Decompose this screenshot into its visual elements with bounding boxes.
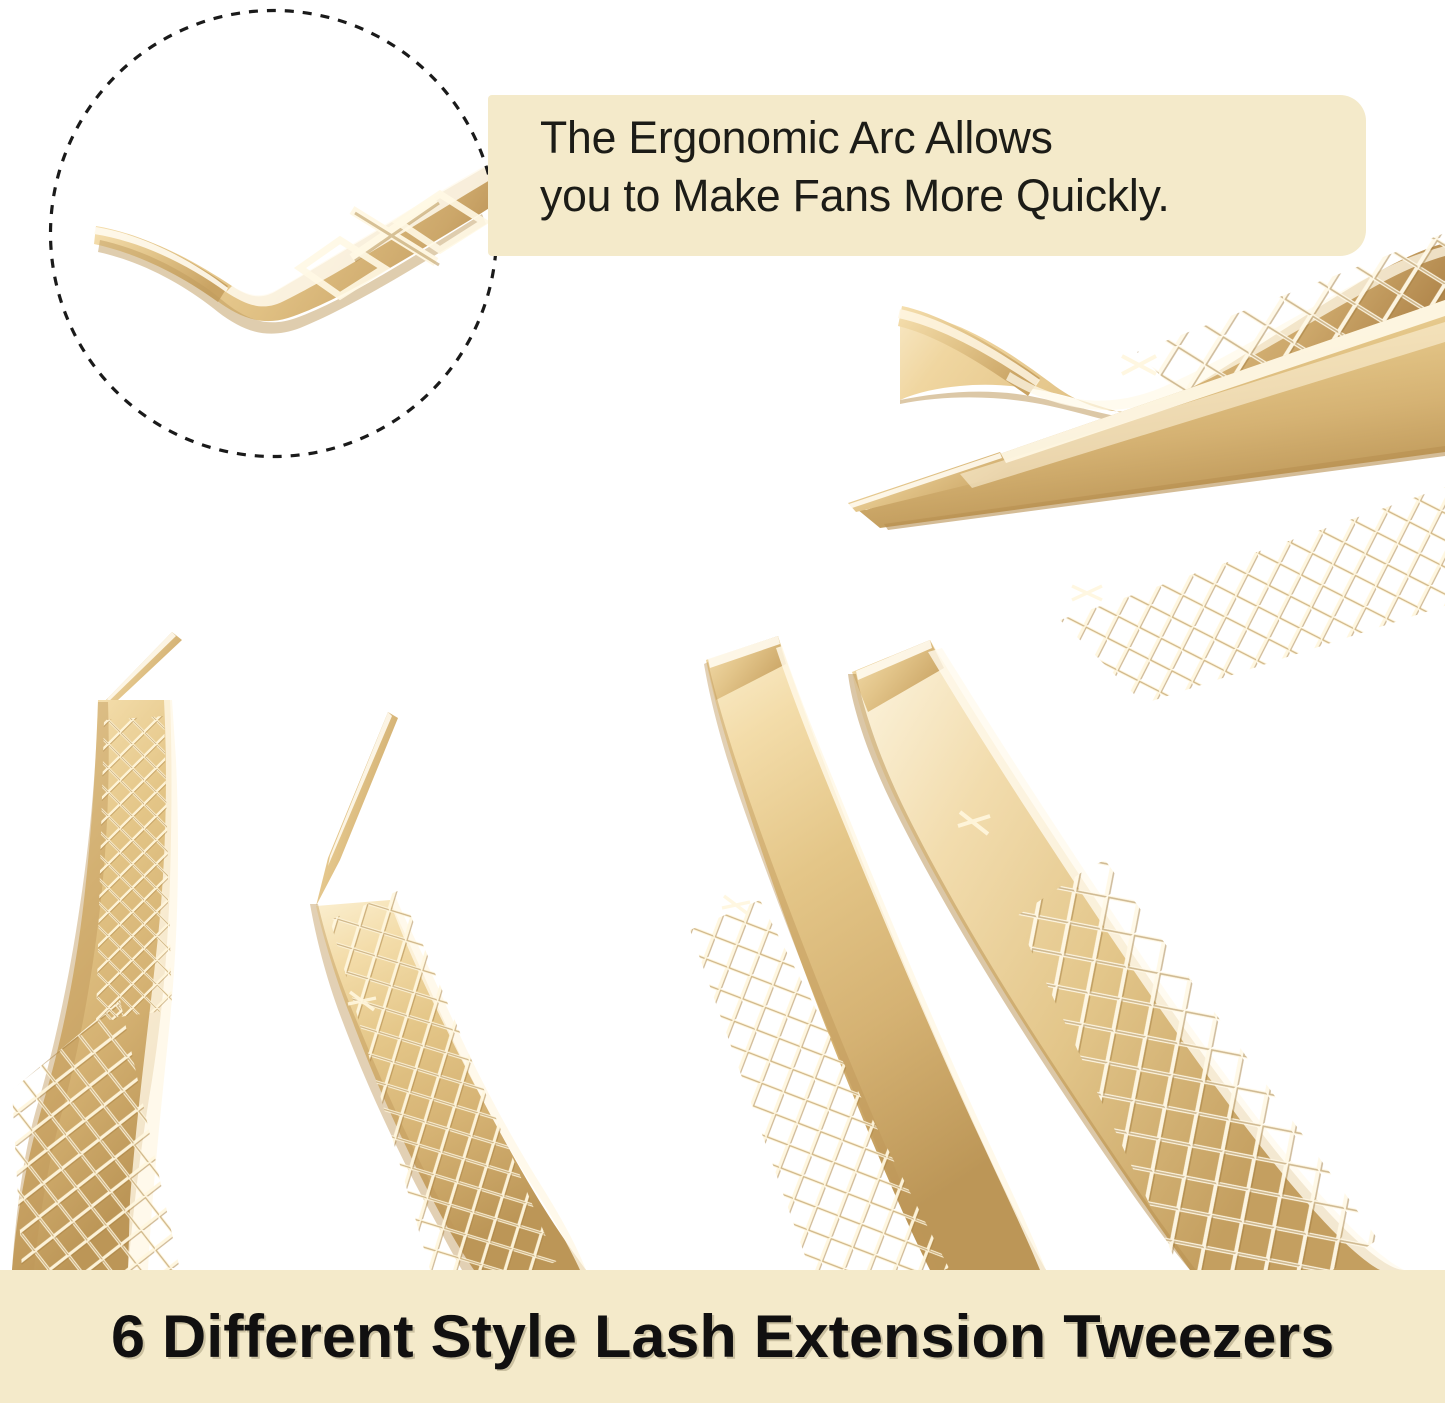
tweezer-boot-bend <box>219 712 699 1336</box>
product-title-banner: 6 Different Style Lash Extension Tweezer… <box>0 1270 1445 1403</box>
ergonomic-arc-callout: The Ergonomic Arc Allows you to Make Fan… <box>488 95 1366 256</box>
product-title: 6 Different Style Lash Extension Tweezer… <box>111 1302 1334 1371</box>
callout-text: The Ergonomic Arc Allows you to Make Fan… <box>540 109 1358 224</box>
tweezer-angled-45-left <box>0 632 249 1305</box>
product-image-stage: The Ergonomic Arc Allows you to Make Fan… <box>0 0 1445 1403</box>
